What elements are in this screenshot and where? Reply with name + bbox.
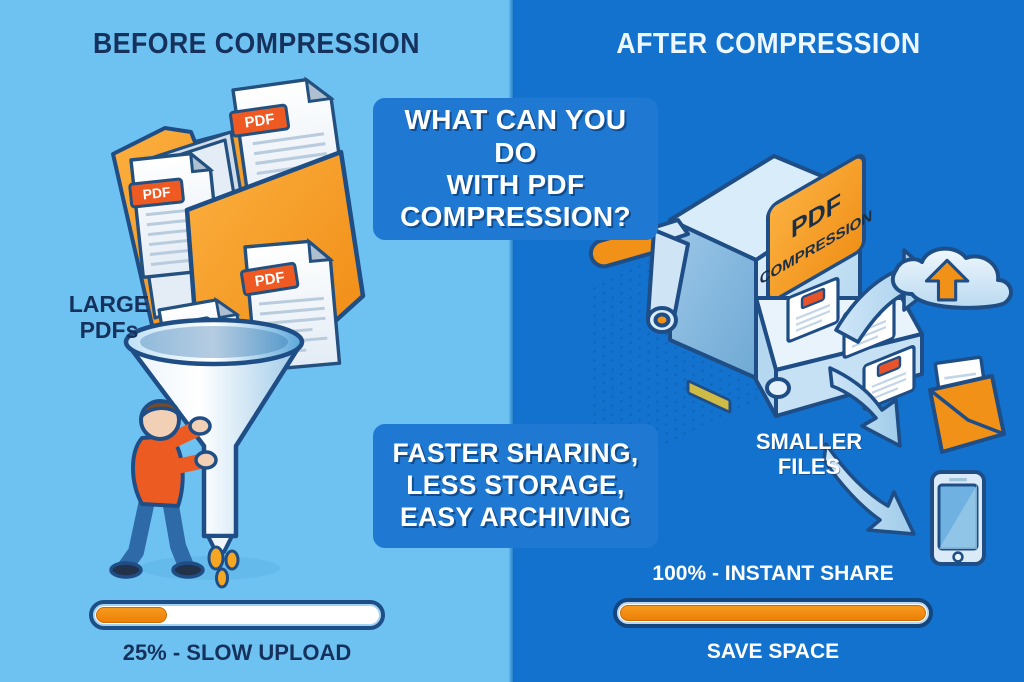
callout-benefits-line2: LESS STORAGE, [389, 470, 642, 502]
label-smaller-files-line1: SMALLER [756, 429, 862, 454]
label-large-pdfs: LARGE PDFs [50, 292, 168, 344]
header-after-compression: AFTER COMPRESSION [533, 28, 1003, 61]
callout-question-line1: WHAT CAN YOU DO [389, 104, 642, 169]
infographic-canvas: BEFORE COMPRESSION AFTER COMPRESSION [0, 0, 1024, 682]
smartphone-icon [932, 472, 984, 564]
callout-benefits-line3: EASY ARCHIVING [389, 502, 642, 534]
progress-bar-after-fill [620, 605, 926, 621]
callout-benefits: FASTER SHARING, LESS STORAGE, EASY ARCHI… [373, 424, 658, 548]
callout-question-line2: WITH PDF [389, 169, 642, 201]
label-smaller-files: SMALLER FILES [744, 430, 874, 479]
callout-question: WHAT CAN YOU DO WITH PDF COMPRESSION? [373, 98, 658, 240]
label-large-pdfs-line1: LARGE [69, 291, 150, 317]
funnel-and-person-illustration [112, 320, 362, 590]
header-before-compression: BEFORE COMPRESSION [21, 28, 493, 61]
callout-question-line3: COMPRESSION? [389, 201, 642, 233]
pdf-badge-label: PDF [142, 184, 172, 203]
callout-benefits-line1: FASTER SHARING, [389, 438, 642, 470]
person-illustration [111, 401, 216, 577]
progress-caption-before: 25% - SLOW UPLOAD [89, 640, 385, 666]
label-smaller-files-line2: FILES [778, 454, 840, 479]
label-large-pdfs-line2: PDFs [80, 317, 139, 343]
machine-indicator-light [688, 381, 730, 413]
output-destinations-illustration [878, 238, 1024, 568]
progress-bar-before [89, 600, 385, 630]
progress-caption-after-top: 100% - INSTANT SHARE [613, 562, 933, 586]
progress-bar-after [613, 598, 933, 628]
envelope-icon [930, 357, 1004, 452]
progress-bar-before-fill [96, 607, 167, 623]
progress-caption-after-bottom: SAVE SPACE [613, 640, 933, 664]
